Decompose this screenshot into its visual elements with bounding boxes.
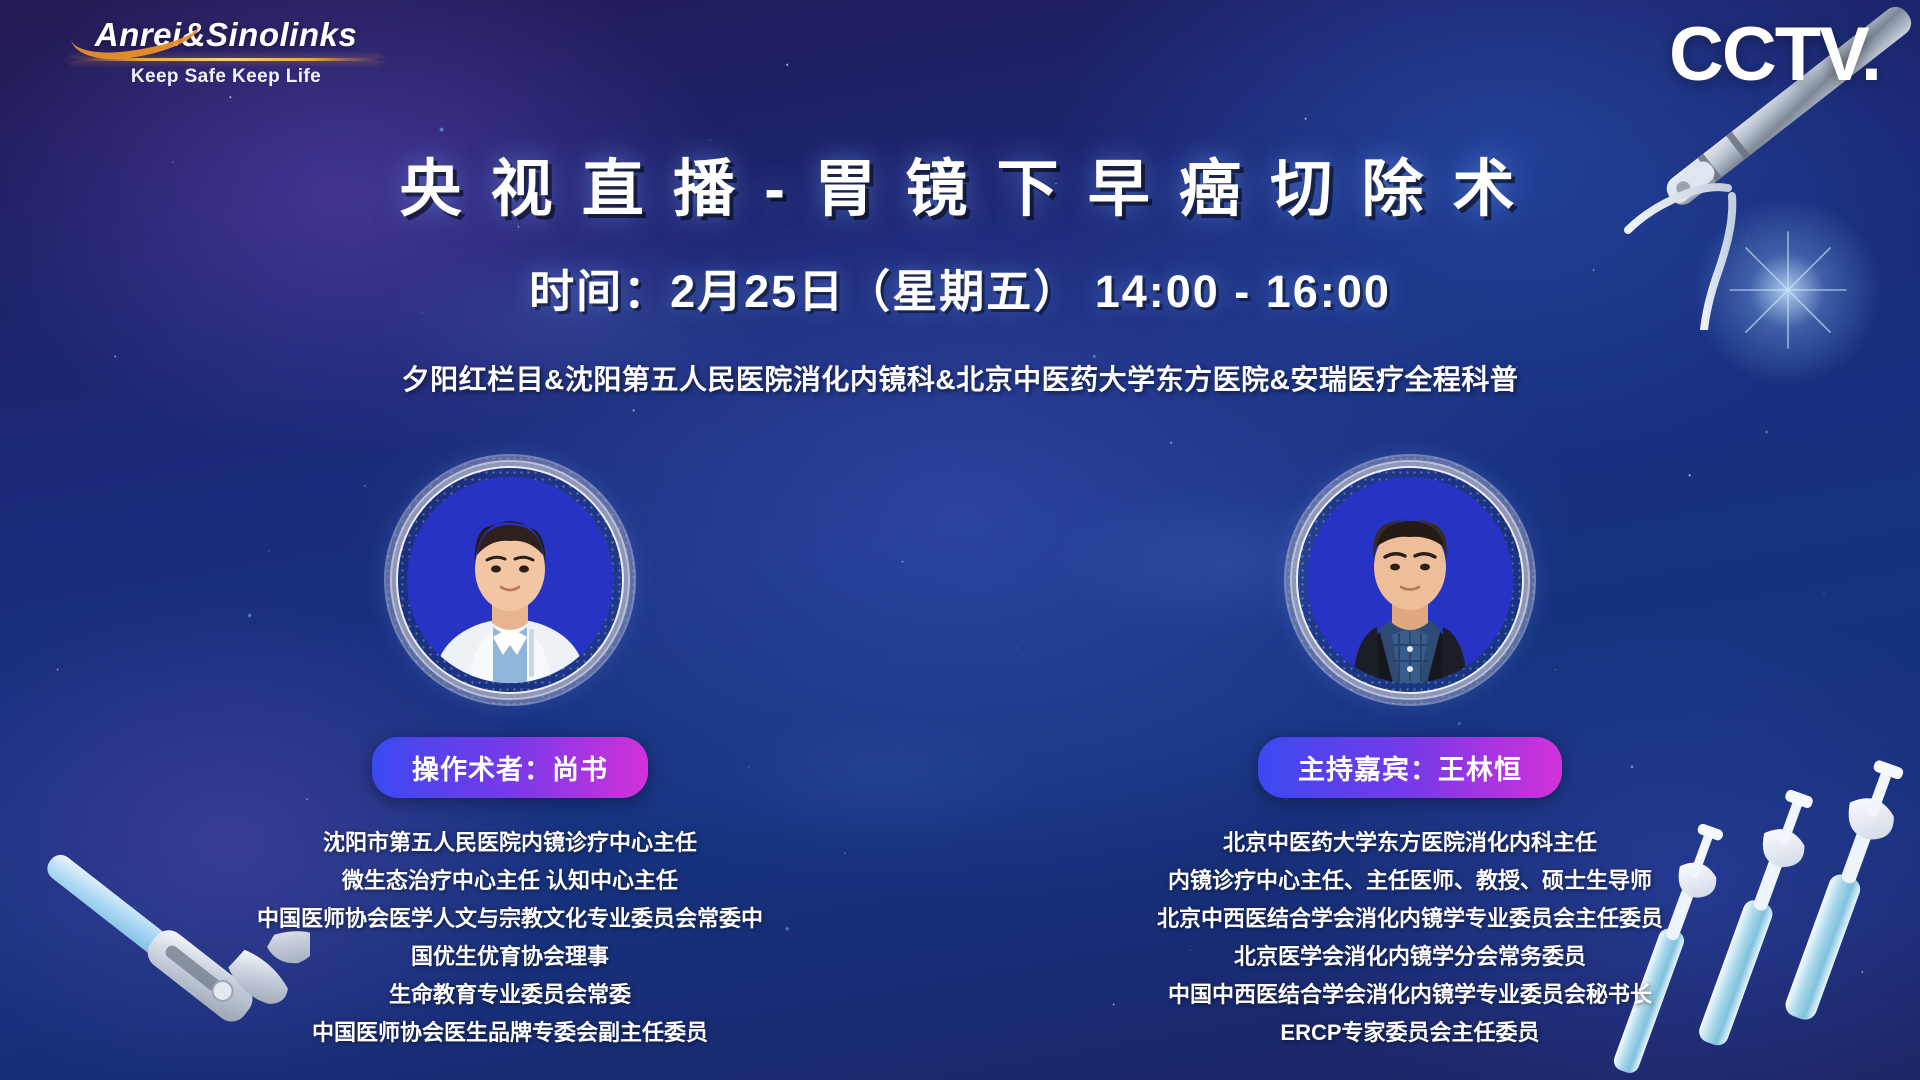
- credential-line: 北京医学会消化内镜学分会常务委员: [1157, 938, 1663, 976]
- avatar-halftone-backdrop: [385, 455, 635, 705]
- credential-line: 中国医师协会医生品牌专委会副主任委员: [257, 1014, 763, 1052]
- credential-line: 中国中西医结合学会消化内镜学专业委员会秘书长: [1157, 976, 1663, 1014]
- credentials-list-operator: 沈阳市第五人民医院内镜诊疗中心主任 微生态治疗中心主任 认知中心主任 中国医师协…: [257, 824, 763, 1052]
- brand-logo: Anrei&Sinolinks Keep Safe Keep Life: [66, 18, 386, 88]
- speaker-card-host: 主持嘉宾：王林恒 北京中医药大学东方医院消化内科主任 内镜诊疗中心主任、主任医师…: [1130, 455, 1690, 1052]
- credentials-list-host: 北京中医药大学东方医院消化内科主任 内镜诊疗中心主任、主任医师、教授、硕士生导师…: [1157, 824, 1663, 1052]
- credential-line: 国优生优育协会理事: [257, 938, 763, 976]
- credential-line: 生命教育专业委员会常委: [257, 976, 763, 1014]
- cctv-logo: CCTV.: [1669, 17, 1880, 93]
- credential-line: 内镜诊疗中心主任、主任医师、教授、硕士生导师: [1157, 862, 1663, 900]
- credential-line: 沈阳市第五人民医院内镜诊疗中心主任: [257, 824, 763, 862]
- credential-line: 微生态治疗中心主任 认知中心主任: [257, 862, 763, 900]
- speaker-card-operator: 操作术者：尚书 沈阳市第五人民医院内镜诊疗中心主任 微生态治疗中心主任 认知中心…: [230, 455, 790, 1052]
- page-title: 央 视 直 播 - 胃 镜 下 早 癌 切 除 术: [0, 138, 1920, 228]
- credential-line: 中国医师协会医学人文与宗教文化专业委员会常委中: [257, 900, 763, 938]
- avatar: [1307, 477, 1513, 683]
- portrait-host-icon: [1307, 477, 1513, 683]
- avatar: [407, 477, 613, 683]
- brand-tagline: Keep Safe Keep Life: [66, 66, 386, 88]
- credential-line: 北京中医药大学东方医院消化内科主任: [1157, 824, 1663, 862]
- credential-line: 北京中西医结合学会消化内镜学专业委员会主任委员: [1157, 900, 1663, 938]
- speakers-section: 操作术者：尚书 沈阳市第五人民医院内镜诊疗中心主任 微生态治疗中心主任 认知中心…: [0, 455, 1920, 1052]
- speaker-badge: 主持嘉宾：王林恒: [1258, 737, 1562, 798]
- credential-line: ERCP专家委员会主任委员: [1157, 1014, 1663, 1052]
- speaker-badge: 操作术者：尚书: [372, 737, 648, 798]
- organizers-text: 夕阳红栏目&沈阳第五人民医院消化内镜科&北京中医药大学东方医院&安瑞医疗全程科普: [0, 358, 1920, 398]
- avatar-halftone-backdrop: [1285, 455, 1535, 705]
- portrait-operator-icon: [407, 477, 613, 683]
- schedule-text: 时间：2月25日（星期五） 14:00 - 16:00: [0, 255, 1920, 320]
- promo-poster: Anrei&Sinolinks Keep Safe Keep Life CCTV…: [0, 0, 1920, 1080]
